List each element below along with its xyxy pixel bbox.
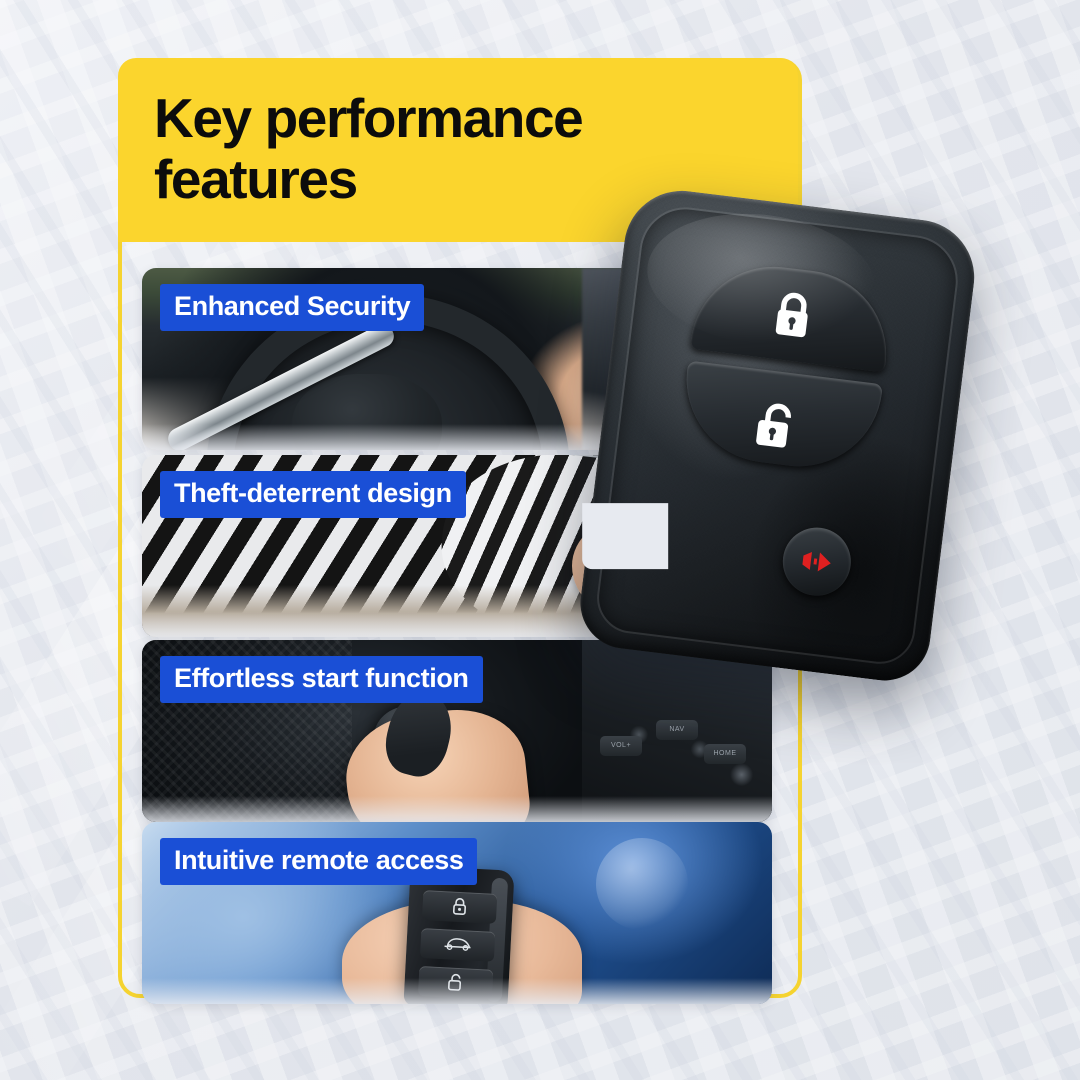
open-padlock-icon bbox=[753, 399, 805, 456]
car-trunk-icon bbox=[420, 933, 495, 958]
feature-panel-intuitive-remote-access[interactable]: Intuitive remote access bbox=[142, 822, 772, 1004]
bokeh-orb bbox=[596, 838, 688, 930]
alarm-horn-icon bbox=[798, 548, 837, 576]
console-key-nav: NAV bbox=[656, 720, 698, 740]
feature-panel-effortless-start-function[interactable]: VOL+ NAV HOME Effortless start function bbox=[142, 640, 772, 822]
fob-trunk-button bbox=[420, 928, 495, 962]
feature-label-theft-deterrent-design: Theft-deterrent design bbox=[160, 471, 466, 518]
console-key-vol: VOL+ bbox=[600, 736, 642, 756]
panel-gloss bbox=[142, 796, 772, 822]
console-key-home: HOME bbox=[704, 744, 746, 764]
infographic-canvas: Key performance features Enhanced Securi… bbox=[0, 0, 1080, 1080]
feature-label-effortless-start-function: Effortless start function bbox=[160, 656, 483, 703]
panel-gloss bbox=[142, 978, 772, 1004]
fob-lock-button bbox=[422, 890, 497, 924]
feature-label-intuitive-remote-access: Intuitive remote access bbox=[160, 838, 477, 885]
center-console: VOL+ NAV HOME bbox=[582, 640, 772, 822]
feature-label-enhanced-security: Enhanced Security bbox=[160, 284, 424, 331]
page-title: Key performance features bbox=[154, 88, 798, 209]
padlock-icon bbox=[422, 895, 497, 923]
product-key-fob bbox=[575, 184, 981, 685]
fob-corner-notch bbox=[582, 503, 668, 569]
closed-padlock-icon bbox=[767, 288, 817, 345]
